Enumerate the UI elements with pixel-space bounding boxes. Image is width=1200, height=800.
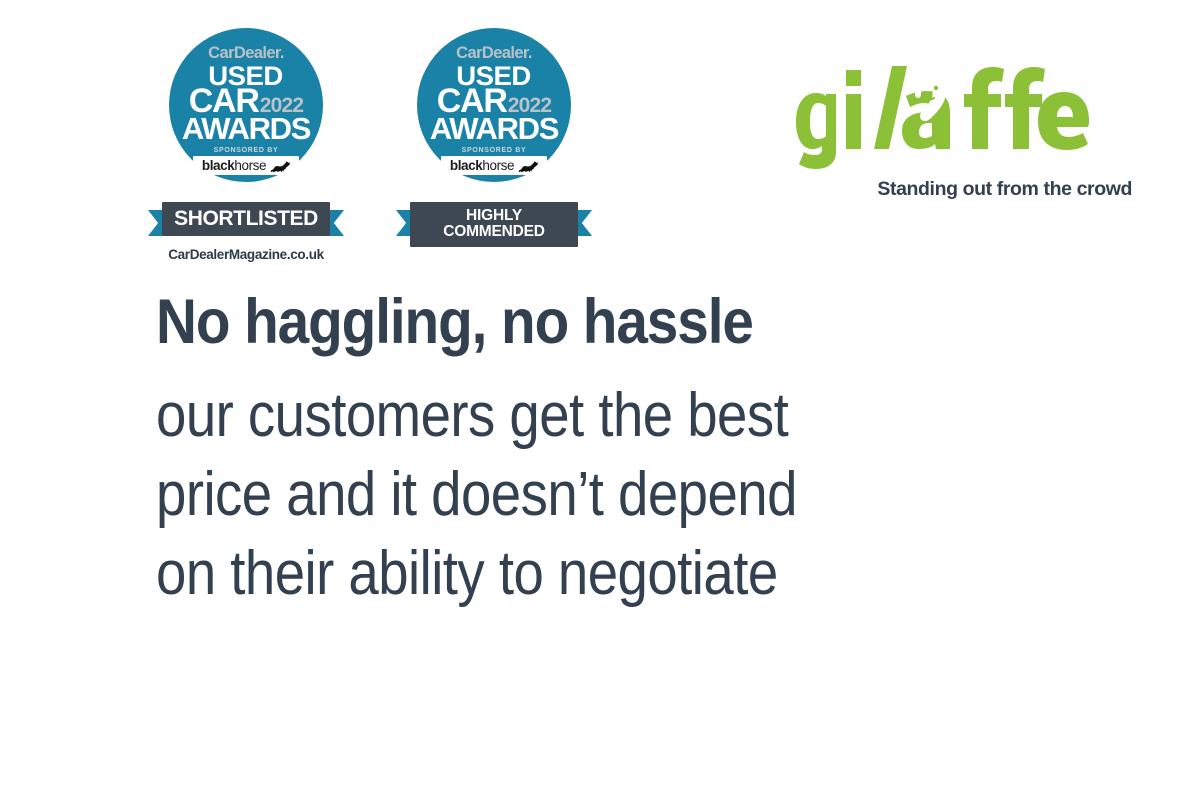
award-badge-highly-commended: CarDealer. USED CAR 2022 AWARDS SPONSORE… (408, 28, 580, 262)
black-horse-icon (269, 159, 290, 172)
badge-disc-wrap: CarDealer. USED CAR 2022 AWARDS SPONSORE… (408, 28, 580, 200)
body-copy-line-1: our customers get the best (156, 376, 948, 455)
badge-ribbon: SHORTLISTED (160, 196, 332, 242)
poster-canvas: CarDealer. USED CAR 2022 AWARDS SPONSORE… (0, 0, 1200, 800)
badge-ribbon: HIGHLY COMMENDED (408, 196, 580, 242)
marketing-copy-block: No haggling, no hassle our customers get… (156, 290, 1056, 614)
ribbon-body: HIGHLY COMMENDED (410, 202, 578, 247)
cardealer-wordmark: CarDealer. (456, 45, 532, 62)
award-badge-shortlisted: CarDealer. USED CAR 2022 AWARDS SPONSORE… (160, 28, 332, 262)
body-copy-line-3: on their ability to negotiate (156, 534, 948, 613)
body-copy-line-2: price and it doesn’t depend (156, 455, 948, 534)
award-badges-group: CarDealer. USED CAR 2022 AWARDS SPONSORE… (160, 28, 580, 262)
sponsor-name-bold: black (450, 158, 483, 173)
cardealer-magazine-url: CarDealerMagazine.co.uk (160, 247, 332, 262)
sponsored-by-label: SPONSORED BY (214, 147, 279, 154)
ribbon-label-line2: COMMENDED (412, 224, 576, 240)
giraffe-brand-logo: Standing out from the crowd (796, 58, 1134, 201)
sponsored-by-label: SPONSORED BY (462, 147, 527, 154)
blackhorse-sponsor-plate: blackhorse (441, 156, 547, 176)
headline: No haggling, no hassle (156, 290, 966, 356)
ribbon-label: SHORTLISTED (164, 208, 328, 229)
blackhorse-sponsor-plate: blackhorse (193, 156, 299, 176)
sponsor-name-light: horse (234, 158, 266, 173)
sponsor-name-light: horse (482, 158, 514, 173)
black-horse-icon (517, 159, 538, 172)
sponsor-name-bold: black (202, 158, 235, 173)
badge-disc-wrap: CarDealer. USED CAR 2022 AWARDS SPONSORE… (160, 28, 332, 200)
cardealer-wordmark: CarDealer. (208, 45, 284, 62)
award-title-used: USED (457, 65, 531, 88)
award-title-used: USED (209, 65, 283, 88)
brand-tagline: Standing out from the crowd (796, 178, 1134, 201)
award-title-block: USED CAR 2022 AWARDS (408, 65, 580, 142)
ribbon-label-line1: HIGHLY (412, 208, 576, 224)
award-title-awards: AWARDS (182, 116, 310, 142)
ribbon-body: SHORTLISTED (162, 202, 330, 236)
body-copy: our customers get the best price and it … (156, 376, 948, 614)
award-title-awards: AWARDS (430, 116, 558, 142)
award-title-block: USED CAR 2022 AWARDS (160, 65, 332, 142)
giraffe-wordmark-icon (796, 58, 1134, 170)
